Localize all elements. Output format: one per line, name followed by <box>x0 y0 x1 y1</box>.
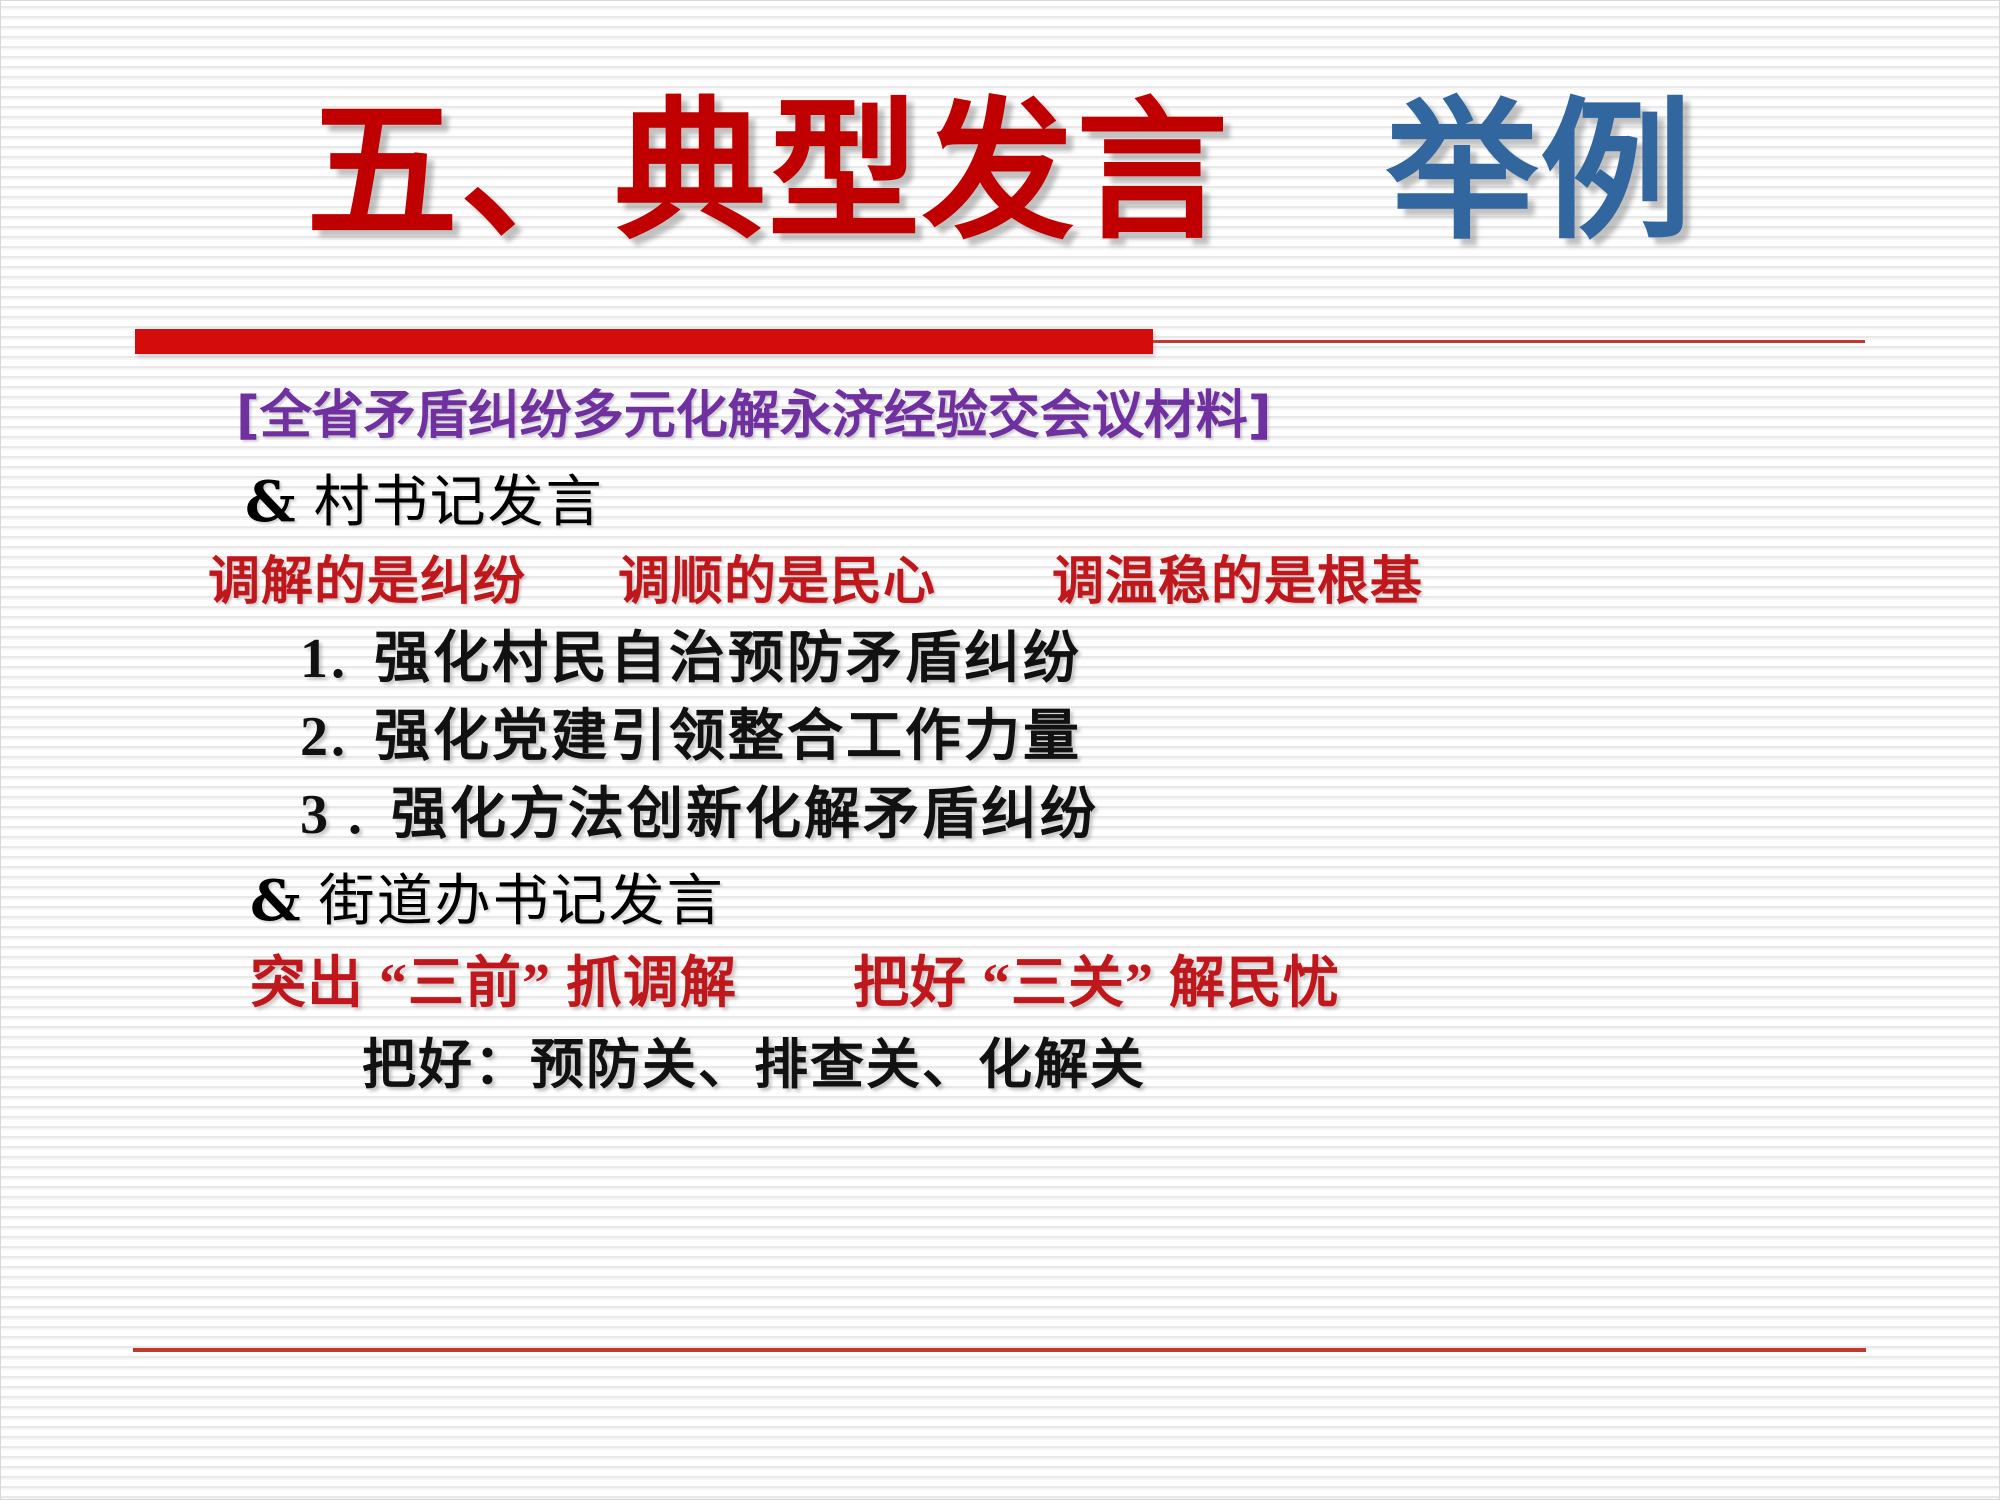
detail-line-three-gates: 把好：预防关、排查关、化解关 <box>362 1038 2000 1092</box>
slide-canvas: 五、典型发言 举例 [全省矛盾纠纷多元化解永济经验交会议材料] &村书记发言 调… <box>0 0 2000 1500</box>
page-title-red-segment: 五、典型发言 <box>306 83 1230 260</box>
title-underline-thick <box>135 329 1153 354</box>
list-item-label: 强化方法创新化解矛盾纠纷 <box>391 784 1099 846</box>
list-item: 3 .强化方法创新化解矛盾纠纷 <box>300 787 2000 843</box>
tagline-phrase-2: 调顺的是民心 <box>618 554 936 611</box>
tagline-phrase-3: 调温稳的是根基 <box>1052 554 1423 611</box>
subtitle-bracketed: [全省矛盾纠纷多元化解永济经验交会议材料] <box>236 390 2000 442</box>
ampersand-bullet-icon: & <box>250 868 301 934</box>
list-item-number: 2. <box>300 706 374 768</box>
tagline-phrase-2: 把好 “三关” 解民忧 <box>853 953 1340 1015</box>
ampersand-bullet-icon: & <box>245 469 296 535</box>
section-heading-street-office-secretary: &街道办书记发言 <box>250 873 2000 930</box>
tagline-phrase-1: 调解的是纠纷 <box>208 554 526 611</box>
list-item-label: 强化党建引领整合工作力量 <box>374 706 1082 768</box>
list-item-number: 1. <box>300 628 374 690</box>
footer-rule <box>133 1348 1866 1352</box>
tagline-row-village: 调解的是纠纷调顺的是民心调温稳的是根基 <box>208 557 2000 609</box>
section-heading-label: 村书记发言 <box>296 472 604 534</box>
list-item: 2.强化党建引领整合工作力量 <box>300 709 2000 765</box>
section-heading-label: 街道办书记发言 <box>301 871 725 933</box>
slide-body: [全省矛盾纠纷多元化解永济经验交会议材料] &村书记发言 调解的是纠纷调顺的是民… <box>0 390 2000 1092</box>
tagline-row-street-office: 突出 “三前” 抓调解把好 “三关” 解民忧 <box>250 956 2000 1012</box>
list-item-label: 强化村民自治预防矛盾纠纷 <box>374 628 1082 690</box>
list-item: 1.强化村民自治预防矛盾纠纷 <box>300 631 2000 687</box>
page-title-blue-segment: 举例 <box>1386 83 1694 260</box>
section-heading-village-secretary: &村书记发言 <box>245 474 2000 531</box>
tagline-phrase-1: 突出 “三前” 抓调解 <box>250 953 737 1015</box>
list-item-number: 3 . <box>300 784 391 846</box>
page-title: 五、典型发言 举例 <box>0 96 2000 248</box>
